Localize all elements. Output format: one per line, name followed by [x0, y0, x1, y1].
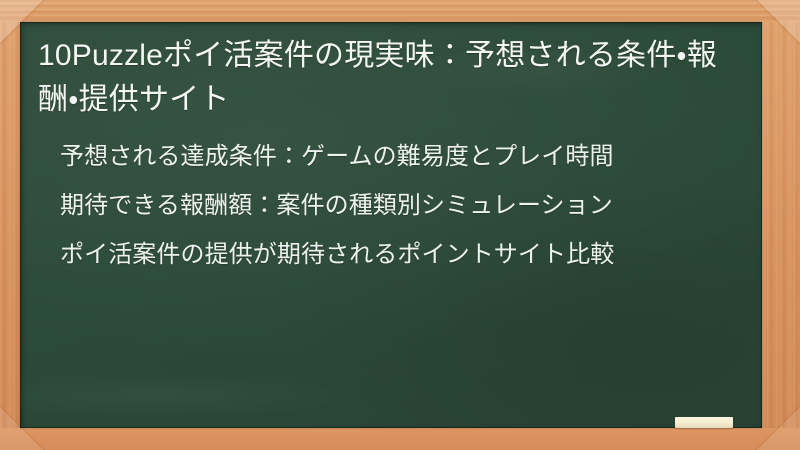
frame-rail-top: [0, 0, 800, 22]
table-of-contents: 予想される達成条件：ゲームの難易度とプレイ時間 期待できる報酬額：案件の種類別シ…: [38, 138, 744, 273]
chalk-stick-icon: [675, 417, 733, 428]
list-item[interactable]: ポイ活案件の提供が期待されるポイントサイト比較: [60, 236, 734, 273]
chalkboard-frame: 10Puzzleポイ活案件の現実味：予想される条件・報酬・提供サイト 予想される…: [0, 0, 800, 450]
chalkboard-surface: 10Puzzleポイ活案件の現実味：予想される条件・報酬・提供サイト 予想される…: [20, 22, 762, 428]
page-title: 10Puzzleポイ活案件の現実味：予想される条件・報酬・提供サイト: [38, 34, 744, 122]
frame-rail-bottom: [0, 428, 800, 450]
list-item[interactable]: 予想される達成条件：ゲームの難易度とプレイ時間: [60, 138, 734, 175]
list-item[interactable]: 期待できる報酬額：案件の種類別シミュレーション: [60, 187, 734, 224]
chalkboard-content: 10Puzzleポイ活案件の現実味：予想される条件・報酬・提供サイト 予想される…: [20, 22, 762, 428]
